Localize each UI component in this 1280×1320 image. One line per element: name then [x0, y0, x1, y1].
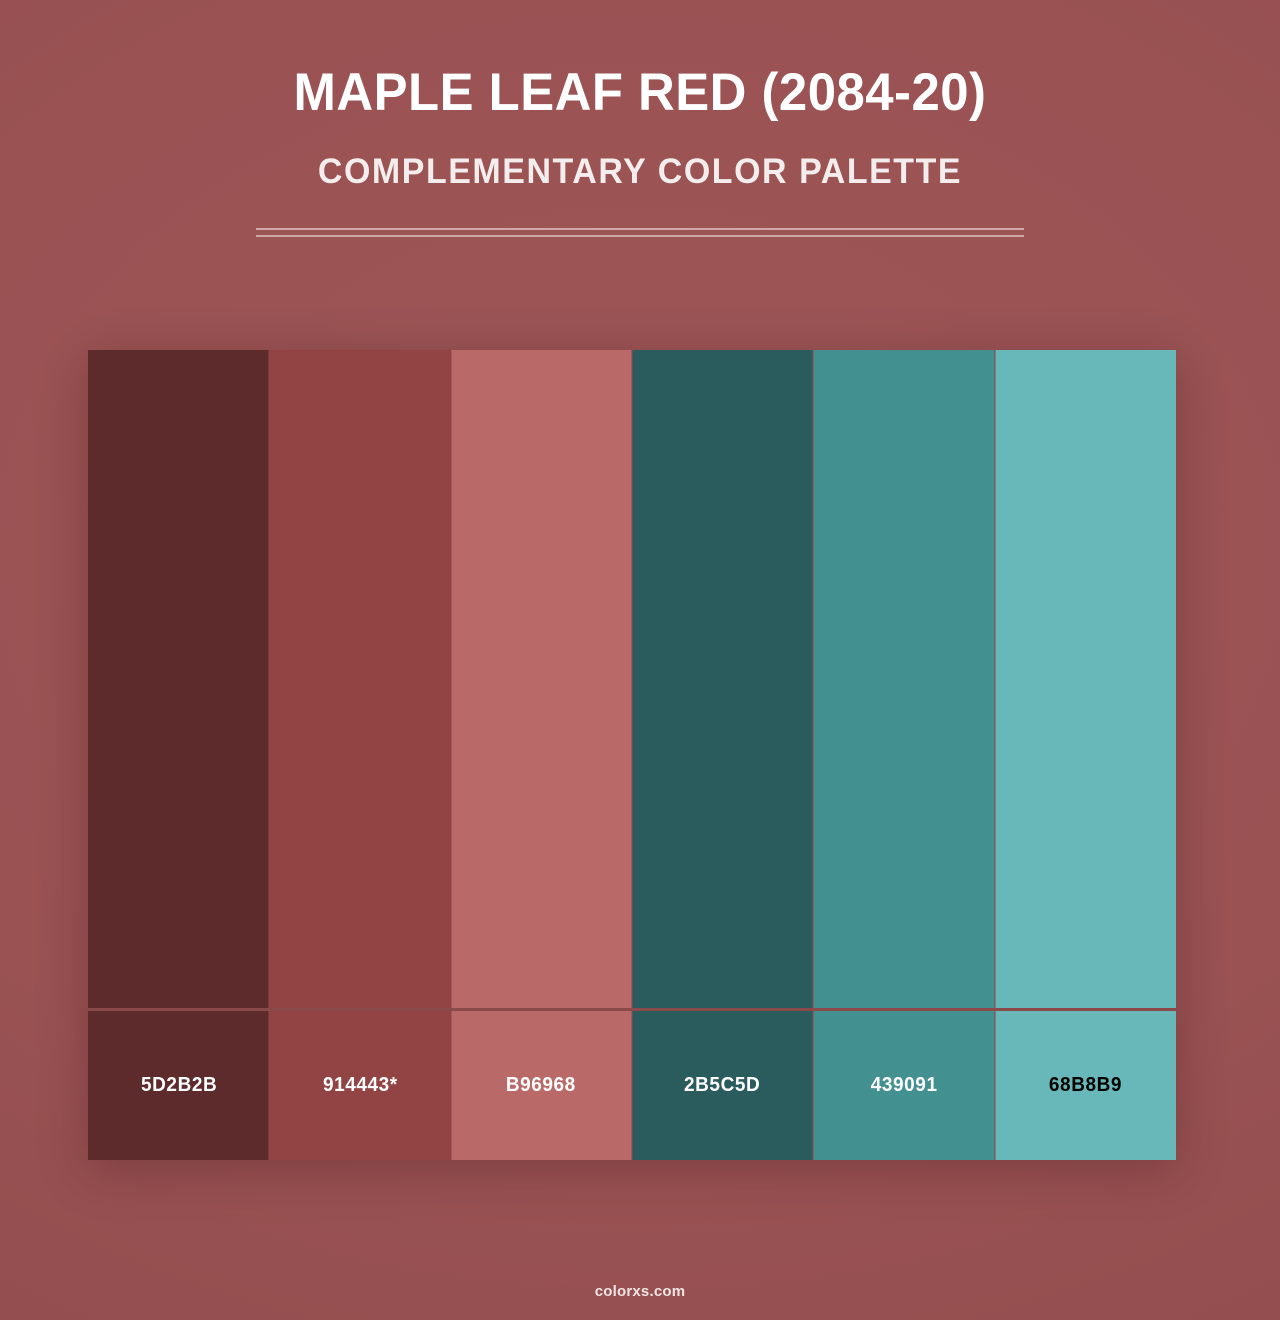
swatch-hex-label: 439091 [871, 1074, 938, 1097]
page-subtitle: COMPLEMENTARY COLOR PALETTE [19, 151, 1261, 193]
swatch-hex-label: 2B5C5D [684, 1074, 760, 1097]
swatch-hex-label: 914443* [323, 1074, 398, 1097]
header: MAPLE LEAF RED (2084-20) COMPLEMENTARY C… [0, 0, 1280, 193]
footer: colorxs.com [0, 1283, 1280, 1301]
color-swatch[interactable]: 439091 [813, 350, 994, 1160]
swatch-label-area: B96968 [451, 1011, 632, 1160]
color-swatch[interactable]: B96968 [451, 350, 632, 1160]
color-swatch[interactable]: 5D2B2B [88, 350, 269, 1160]
swatch-label-area: 2B5C5D [632, 1011, 813, 1160]
divider-rule-top [256, 228, 1024, 230]
swatch-label-area: 439091 [813, 1011, 994, 1160]
swatch-hex-label: 68B8B9 [1049, 1074, 1122, 1097]
color-swatch[interactable]: 2B5C5D [632, 350, 813, 1160]
swatch-hex-label: B96968 [506, 1074, 576, 1097]
title-divider [256, 228, 1024, 238]
swatch-color-block [88, 350, 269, 1008]
color-swatch[interactable]: 68B8B9 [995, 350, 1176, 1160]
swatch-label-area: 914443* [269, 1011, 450, 1160]
swatch-color-block [995, 350, 1176, 1008]
swatch-color-block [451, 350, 632, 1008]
divider-rule-bottom [256, 235, 1024, 237]
swatch-hex-label: 5D2B2B [141, 1074, 217, 1097]
swatch-color-block [269, 350, 450, 1008]
color-swatch[interactable]: 914443* [269, 350, 450, 1160]
swatch-label-area: 5D2B2B [88, 1011, 269, 1160]
palette-strip: 5D2B2B 914443* B96968 2B5C5D [88, 350, 1176, 1160]
site-credit: colorxs.com [595, 1283, 686, 1300]
color-palette-page: MAPLE LEAF RED (2084-20) COMPLEMENTARY C… [0, 0, 1280, 1320]
swatch-label-area: 68B8B9 [995, 1011, 1176, 1160]
swatch-color-block [632, 350, 813, 1008]
page-title: MAPLE LEAF RED (2084-20) [26, 62, 1255, 124]
swatch-color-block [813, 350, 994, 1008]
